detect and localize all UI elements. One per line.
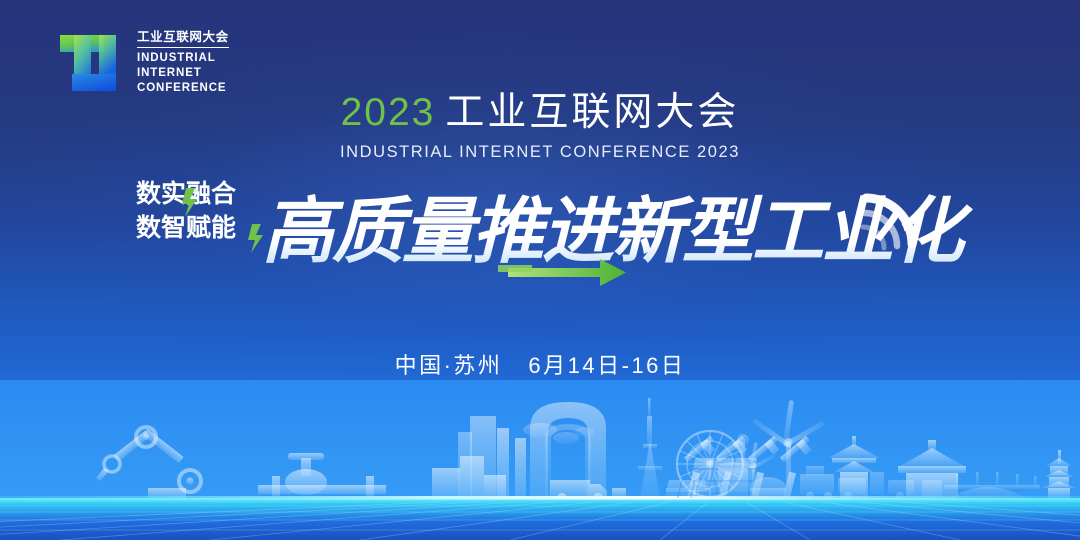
title-chinese: 工业互联网大会 (445, 91, 739, 134)
conference-banner: 工业互联网大会 INDUSTRIAL INTERNET CONFERENCE 2… (0, 0, 1080, 540)
industrial-internet-conference-logo-icon (58, 30, 126, 96)
logo-text-group: 工业互联网大会 INDUSTRIAL INTERNET CONFERENCE (137, 30, 229, 96)
title-year: 2023 (341, 91, 436, 134)
headline-green-accent (498, 265, 532, 272)
event-location: 中国·苏州 (395, 353, 503, 378)
conference-title-block: 2023工业互联网大会 INDUSTRIAL INTERNET CONFEREN… (0, 92, 1080, 162)
lightning-bolt-icon (248, 224, 263, 253)
page-title: 2023工业互联网大会 (0, 92, 1080, 134)
title-subtitle: INDUSTRIAL INTERNET CONFERENCE 2023 (0, 143, 1080, 162)
ground-plane (0, 498, 1080, 540)
conference-logo[interactable]: 工业互联网大会 INDUSTRIAL INTERNET CONFERENCE (58, 30, 229, 96)
horizon-glow-line (0, 496, 1080, 500)
logo-english-name: INDUSTRIAL INTERNET CONFERENCE (137, 51, 229, 97)
logo-en-line-1: INDUSTRIAL (137, 52, 216, 64)
skyline-svg (0, 380, 1080, 540)
event-dateline: 中国·苏州6月14日-16日 (0, 348, 1080, 380)
headline-svg: 数实融合 数智赋能 高质量推进新型工业化 (0, 172, 1080, 292)
event-date: 6月14日-16日 (528, 353, 685, 378)
city-skyline-graphic (0, 380, 1080, 540)
headline-graphic: 数实融合 数智赋能 高质量推进新型工业化 (0, 172, 1080, 292)
headline-slogan-line-2: 数智赋能 (136, 213, 236, 242)
logo-en-line-2: INTERNET (137, 67, 202, 79)
logo-chinese-name: 工业互联网大会 (137, 30, 229, 48)
